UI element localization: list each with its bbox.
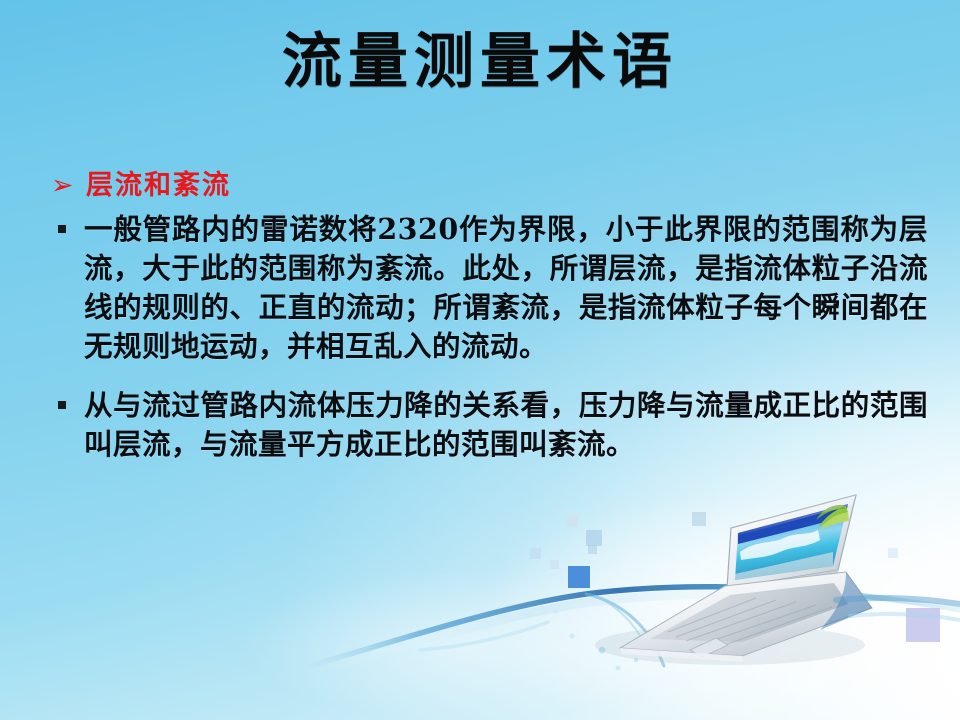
splash-crest-2 xyxy=(596,596,646,646)
laptop-illustration xyxy=(595,495,872,665)
laptop-screen-wallpaper xyxy=(735,504,848,580)
water-splash-wave xyxy=(302,587,960,668)
haze-glow xyxy=(485,492,960,720)
water-splash-wave-soft xyxy=(312,595,960,670)
wallpaper-shore-band xyxy=(735,552,833,580)
arrow-bullet-icon: ➢ xyxy=(48,168,86,204)
laptop-keyboard xyxy=(650,583,848,642)
laptop-front-edge xyxy=(620,648,744,662)
laptop-trackpad xyxy=(690,638,728,657)
haze-glow-left xyxy=(240,570,700,720)
bullet-paragraph-2-text: 从与流过管路内流体压力降的关系看，压力降与流量成正比的范围叫层流，与流量平方成正… xyxy=(84,386,928,464)
bullet-paragraph-2: 从与流过管路内流体压力降的关系看，压力降与流量成正比的范围叫层流，与流量平方成正… xyxy=(48,386,928,464)
laptop-shadow xyxy=(595,625,865,665)
slide-canvas: 流量测量术语 ➢ 层流和紊流 一般管路内的雷诺数将2320作为界限，小于此界限的… xyxy=(0,0,960,720)
laptop-hinge xyxy=(727,570,840,596)
wallpaper-palm-frond xyxy=(816,505,845,520)
laptop-screen xyxy=(735,504,849,580)
laptop-lid xyxy=(727,495,856,588)
laptop-lid-glint xyxy=(731,495,856,537)
splash-crest xyxy=(586,594,664,666)
wallpaper-palm-frond xyxy=(818,506,848,528)
square-bullet-icon xyxy=(48,210,84,233)
water-droplet xyxy=(554,610,558,614)
bullet-paragraph-1: 一般管路内的雷诺数将2320作为界限，小于此界限的范围称为层流，大于此的范围称为… xyxy=(48,210,928,366)
floating-square xyxy=(566,515,578,527)
floating-square-lavender xyxy=(906,608,940,642)
floating-square xyxy=(588,545,597,554)
section-heading-laminar-turbulent: ➢ 层流和紊流 xyxy=(48,168,928,204)
floating-square xyxy=(888,548,898,558)
water-droplet xyxy=(616,666,621,671)
water-droplet xyxy=(569,633,574,638)
water-streak-soft xyxy=(850,614,960,620)
floating-square xyxy=(550,560,559,569)
water-droplet xyxy=(599,647,606,654)
floating-square xyxy=(530,548,541,559)
wallpaper-cloud xyxy=(740,530,820,560)
keyboard-keys xyxy=(668,598,832,648)
floating-square-accent xyxy=(568,566,590,588)
wallpaper-sky-band xyxy=(738,504,848,544)
floating-square xyxy=(692,512,706,526)
water-streak xyxy=(836,598,960,604)
water-droplet xyxy=(634,658,638,662)
section-heading-label: 层流和紊流 xyxy=(86,168,928,204)
slide-body: ➢ 层流和紊流 一般管路内的雷诺数将2320作为界限，小于此界限的范围称为层流，… xyxy=(48,168,928,466)
square-bullet-icon xyxy=(48,386,84,409)
floating-square xyxy=(586,530,602,546)
water-wisp xyxy=(420,622,548,650)
bullet-paragraph-1-text: 一般管路内的雷诺数将2320作为界限，小于此界限的范围称为层流，大于此的范围称为… xyxy=(84,210,928,366)
page-title: 流量测量术语 xyxy=(0,26,960,98)
wallpaper-palm-frond xyxy=(820,512,849,530)
laptop-side-reflection xyxy=(820,572,872,630)
laptop-base xyxy=(620,572,872,656)
